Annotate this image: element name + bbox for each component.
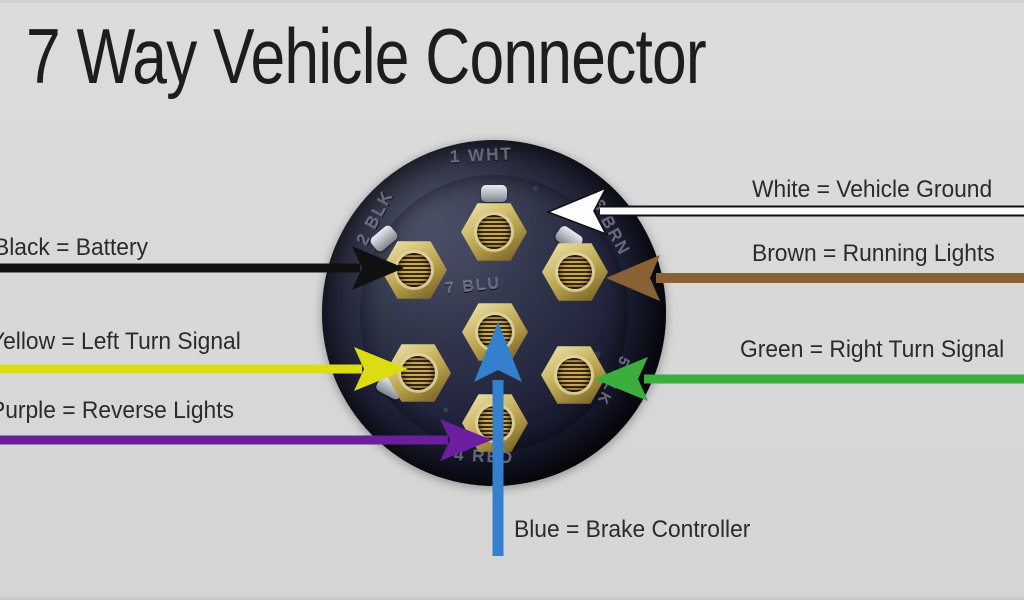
- label-brown-running: Brown = Running Lights: [752, 240, 995, 268]
- label-yellow-left-turn: Yellow = Left Turn Signal: [0, 328, 241, 356]
- label-purple-reverse: Purple = Reverse Lights: [0, 397, 234, 425]
- label-green-right-turn: Green = Right Turn Signal: [740, 336, 1004, 364]
- diagram-canvas: 7 Way Vehicle Connector 1 WHT 2 BLK 6 BR…: [0, 0, 1024, 600]
- pointer-arrows: [0, 0, 1024, 600]
- label-blue-brake: Blue = Brake Controller: [514, 516, 750, 544]
- label-black-battery: Black = Battery: [0, 234, 148, 262]
- label-white-ground: White = Vehicle Ground: [752, 176, 992, 204]
- arrow-purple-reverse: [0, 419, 492, 461]
